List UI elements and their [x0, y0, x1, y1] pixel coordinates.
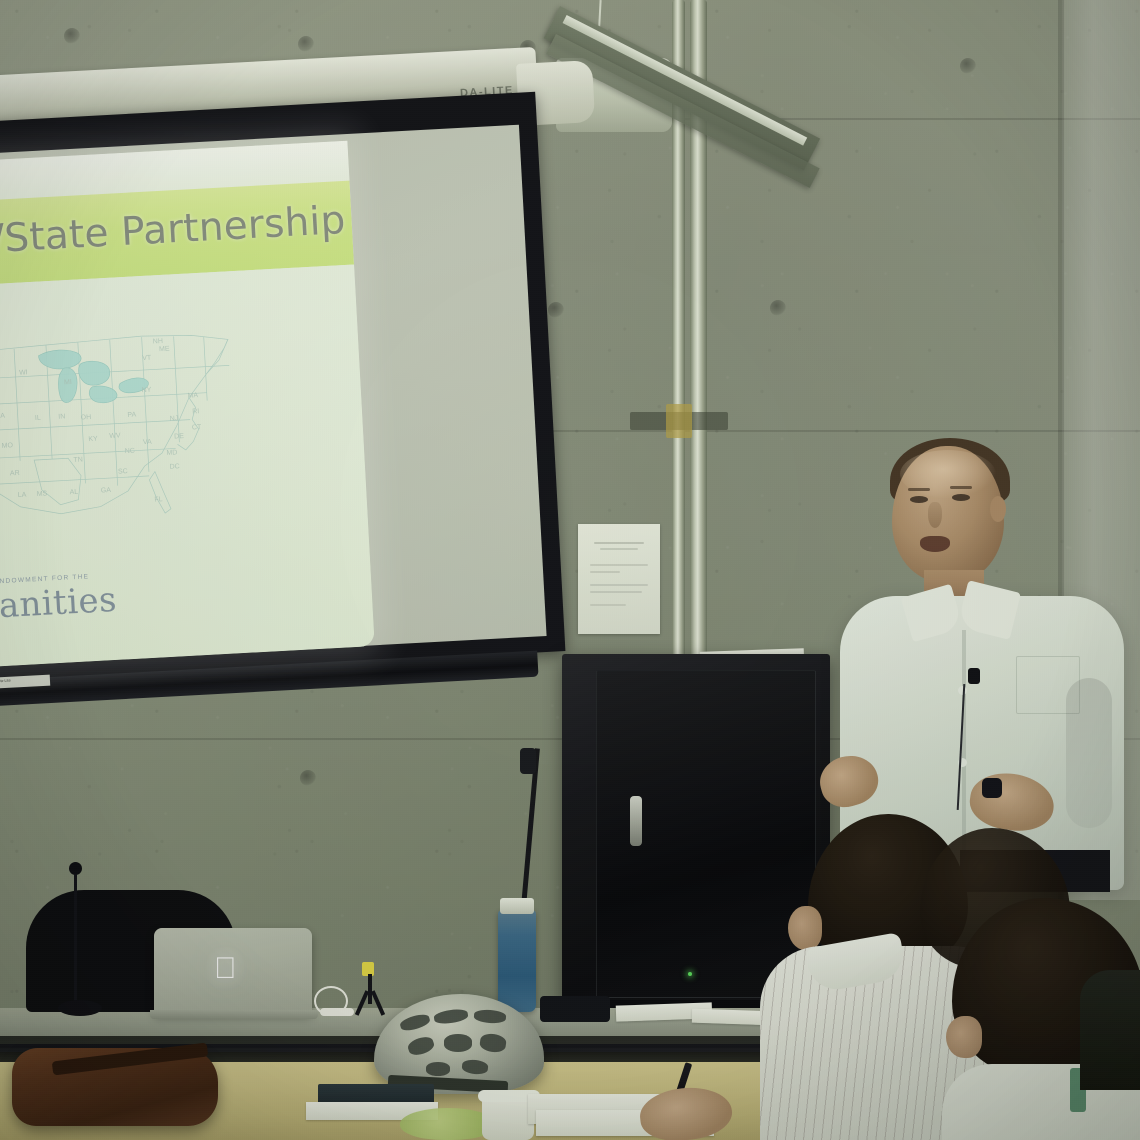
svg-text:LA: LA: [18, 492, 27, 499]
helmet-vent: [433, 1008, 468, 1026]
av-cabinet-handle[interactable]: [630, 796, 642, 846]
svg-text:MI: MI: [64, 379, 72, 386]
sign-text-line: [590, 584, 648, 586]
presenter-ear: [990, 496, 1006, 522]
svg-text:VA: VA: [143, 439, 153, 446]
svg-text:MD: MD: [166, 449, 177, 457]
mini-tripod[interactable]: [352, 962, 394, 1020]
svg-text:AL: AL: [69, 489, 78, 496]
presenter-brow-right: [950, 486, 972, 489]
svg-text:MO: MO: [2, 442, 14, 450]
sign-text-line: [600, 548, 638, 550]
svg-text:WV: WV: [109, 432, 121, 440]
tripod-leg: [371, 990, 385, 1015]
screen-bottom-label-text: Da-Lite: [0, 675, 50, 685]
svg-text:NY: NY: [141, 387, 151, 395]
form-tie-hole: [770, 300, 786, 316]
helmet-vent: [426, 1062, 450, 1076]
presenter-brow-left: [908, 488, 930, 491]
svg-text:IN: IN: [58, 413, 65, 420]
water-bottle-cap[interactable]: [500, 898, 534, 914]
united-states-map: ND SD NE KS OK MN IA MO AR LA WI IL MS M…: [0, 299, 252, 545]
posted-notice: [578, 524, 660, 634]
svg-text:WI: WI: [19, 369, 28, 376]
helmet-vent: [479, 1032, 507, 1053]
svg-text:ME: ME: [159, 346, 170, 354]
presenter-mouth: [920, 536, 950, 552]
presentation-clicker[interactable]: [982, 778, 1002, 798]
svg-text:MS: MS: [37, 490, 48, 498]
water-bottle[interactable]: [498, 910, 536, 1012]
sign-text-line: [590, 591, 642, 593]
student-ear-cheek: [946, 1016, 982, 1058]
helmet-vent: [399, 1012, 431, 1033]
presenter-eye-right: [952, 494, 970, 501]
helmet-vent: [406, 1034, 436, 1057]
svg-text:AR: AR: [10, 470, 20, 478]
macbook-base: [150, 1010, 318, 1019]
sign-text-line: [590, 564, 648, 566]
svg-text:DC: DC: [169, 463, 179, 471]
svg-text:NH: NH: [153, 338, 163, 346]
av-cable-connector: [520, 748, 536, 774]
svg-text:VT: VT: [142, 355, 152, 363]
microphone-stem: [74, 874, 77, 1004]
sign-text-line: [590, 571, 620, 573]
tabletop-device: [540, 996, 610, 1022]
projected-slide: l/State Partnership: [0, 141, 375, 672]
svg-text:OH: OH: [80, 414, 91, 422]
pipe-clamp: [666, 404, 692, 438]
svg-text:GA: GA: [101, 487, 112, 495]
microphone-base: [58, 1000, 102, 1016]
presenter-eye-left: [910, 496, 928, 503]
form-tie-hole: [960, 58, 976, 74]
svg-text:SC: SC: [118, 468, 128, 476]
svg-text:NC: NC: [125, 448, 135, 456]
presenter-nose: [928, 502, 942, 528]
tripod-leg: [355, 990, 369, 1015]
svg-text:TN: TN: [73, 456, 83, 463]
svg-text:KY: KY: [88, 436, 98, 444]
student-shoulder-right: [1080, 970, 1140, 1090]
us-map-svg: ND SD NE KS OK MN IA MO AR LA WI IL MS M…: [0, 299, 252, 545]
drink-cup[interactable]: [482, 1096, 534, 1140]
form-tie-hole: [64, 28, 80, 44]
svg-text:DE: DE: [174, 433, 184, 441]
helmet-vent: [474, 1009, 507, 1024]
svg-text:PA: PA: [127, 411, 137, 418]
svg-text:NJ: NJ: [170, 415, 179, 422]
form-tie-hole: [300, 770, 316, 786]
svg-text:MA: MA: [187, 392, 198, 400]
tripod-leg: [368, 974, 372, 1004]
desk-microphone[interactable]: [60, 862, 90, 1022]
svg-text:IA: IA: [0, 413, 6, 420]
earbud-body: [320, 1008, 354, 1016]
sign-text-line: [590, 604, 626, 606]
student-ear-cheek: [788, 906, 822, 950]
svg-text:IL: IL: [35, 415, 41, 422]
form-tie-hole: [298, 36, 314, 52]
apple-logo-icon: : [214, 954, 237, 984]
presenter-arm-shadow: [1066, 678, 1112, 828]
helmet-vent: [461, 1059, 488, 1076]
helmet-vent: [444, 1034, 472, 1052]
lecture-room-photo: DA-LITE MODEL B Da-Lite l/State Partners…: [0, 0, 1140, 1140]
sign-text-line: [594, 542, 644, 544]
lapel-microphone: [968, 668, 980, 684]
macbook-laptop[interactable]: : [154, 928, 312, 1014]
form-tie-hole: [548, 302, 564, 318]
svg-text:FL: FL: [154, 496, 163, 503]
svg-text:RI: RI: [192, 408, 199, 415]
svg-text:CT: CT: [192, 424, 202, 432]
av-status-led: [688, 972, 692, 976]
